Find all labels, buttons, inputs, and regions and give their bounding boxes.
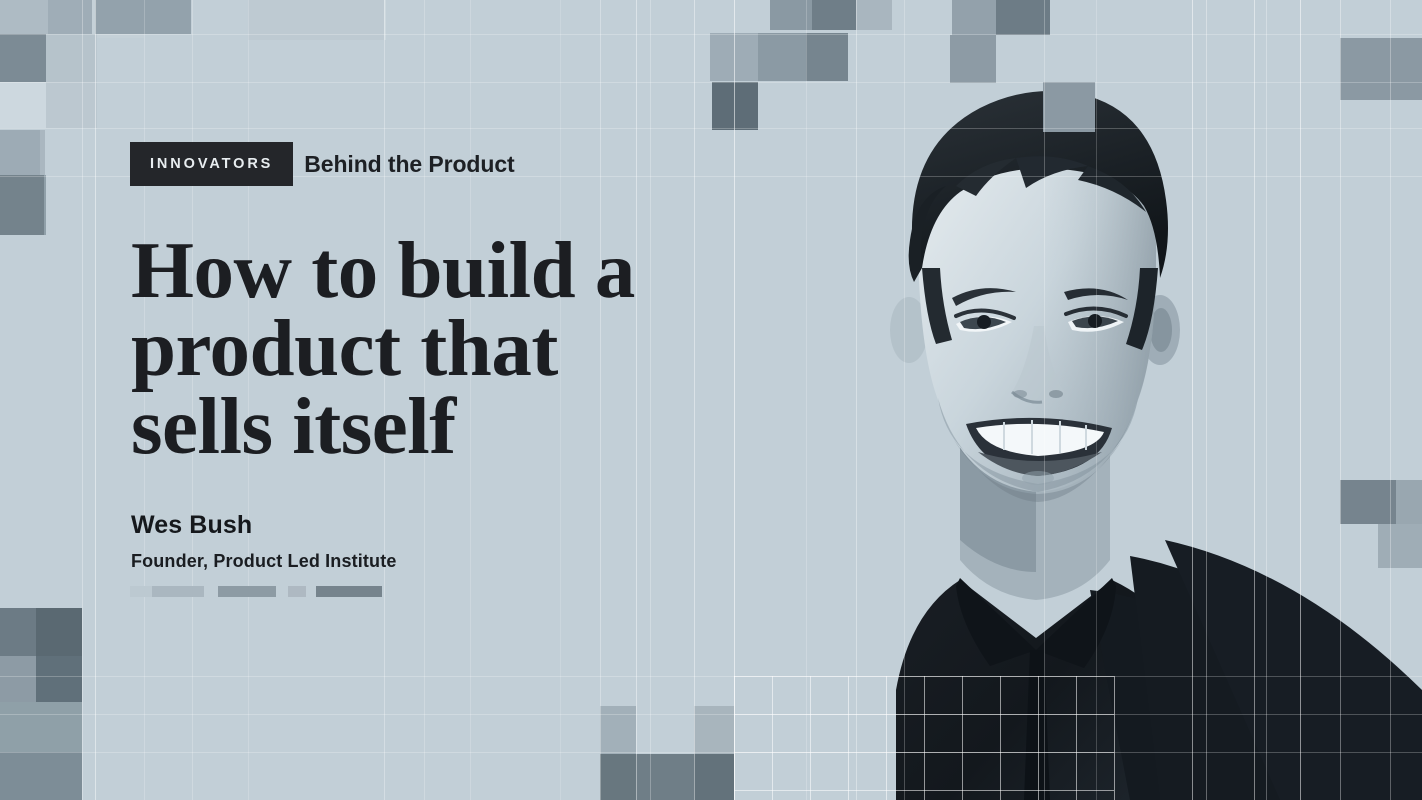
accent-bar-segment — [306, 586, 316, 597]
accent-bar-segment — [152, 586, 204, 597]
mosaic-block — [95, 34, 97, 128]
headline-line-2: product that — [131, 310, 691, 388]
accent-bar-segment — [276, 586, 288, 597]
mosaic-block — [36, 656, 82, 702]
mosaic-block — [36, 608, 82, 656]
mosaic-block — [0, 82, 46, 128]
mosaic-block — [0, 130, 40, 175]
page-title: How to build a product that sells itself — [131, 232, 691, 465]
mosaic-block — [0, 702, 82, 752]
mosaic-block — [44, 175, 46, 235]
mosaic-block — [694, 706, 734, 754]
speaker-role: Founder, Product Led Institute — [131, 551, 397, 572]
accent-bar-segment — [204, 586, 218, 597]
presentation-slide: INNOVATORS Behind the Product How to bui… — [0, 0, 1422, 800]
series-badge: INNOVATORS — [130, 142, 293, 186]
mosaic-block — [0, 608, 36, 656]
mosaic-block — [600, 706, 636, 754]
accent-bar-segment — [316, 586, 382, 597]
mosaic-block — [0, 34, 46, 82]
eyebrow-row: INNOVATORS Behind the Product — [130, 142, 515, 186]
mosaic-block — [95, 0, 191, 34]
mosaic-block — [46, 34, 95, 82]
mosaic-block — [248, 0, 384, 40]
mosaic-block — [0, 752, 82, 800]
accent-bar-segment — [288, 586, 306, 597]
mosaic-block — [48, 0, 92, 38]
speaker-name: Wes Bush — [131, 511, 252, 540]
mosaic-block — [0, 0, 48, 38]
mosaic-block — [636, 754, 694, 800]
accent-bar-segment — [130, 586, 152, 597]
mosaic-block — [694, 754, 734, 800]
mosaic-block — [0, 656, 36, 702]
mosaic-block — [0, 175, 44, 235]
headline-line-3: sells itself — [131, 388, 691, 466]
series-subtitle: Behind the Product — [304, 151, 514, 178]
mosaic-block — [384, 0, 386, 40]
accent-bar — [130, 586, 382, 597]
accent-bar-segment — [218, 586, 276, 597]
mosaic-block — [40, 130, 45, 175]
headline-line-1: How to build a — [131, 232, 691, 310]
mosaic-block — [46, 82, 95, 128]
mosaic-block — [600, 754, 636, 800]
